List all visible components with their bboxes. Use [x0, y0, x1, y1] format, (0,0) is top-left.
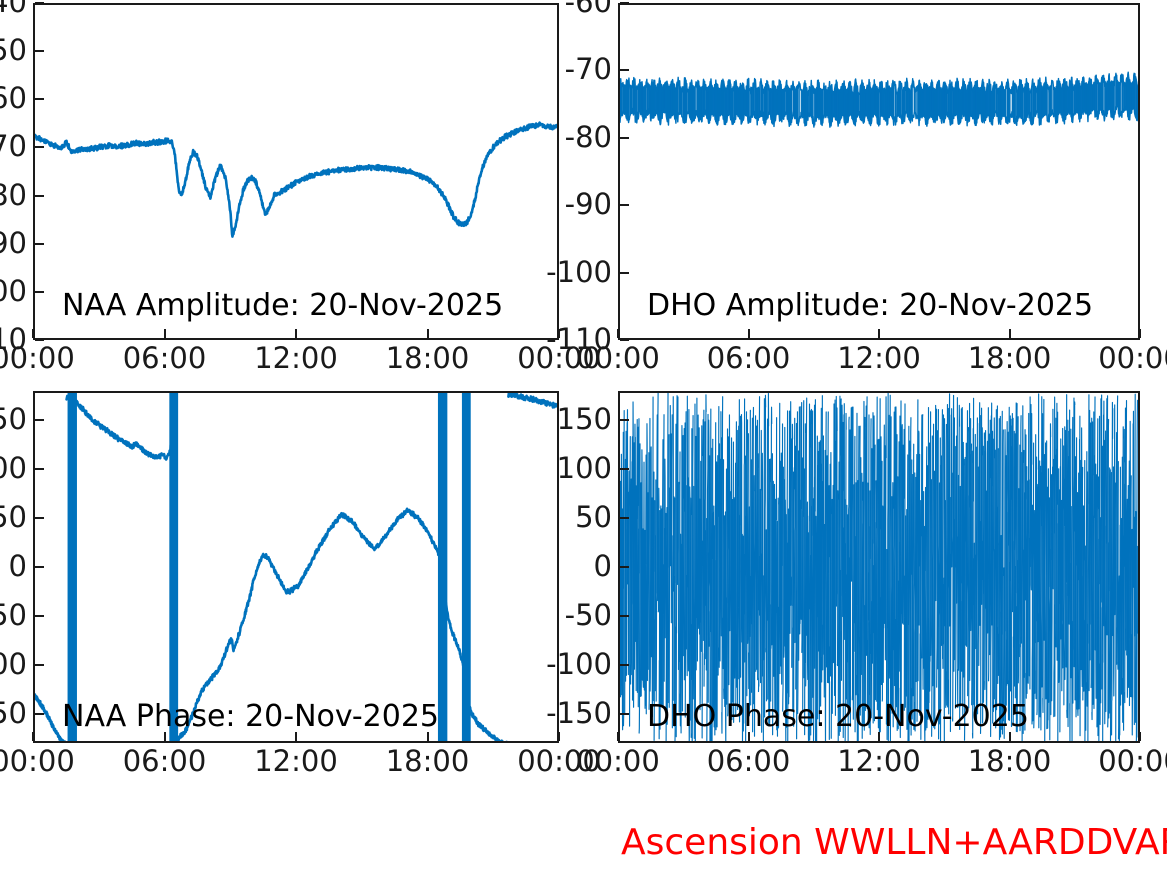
y-tick-label: -60: [0, 84, 27, 113]
y-tick-label: -60: [565, 0, 612, 17]
y-tick-label: -150: [546, 699, 612, 728]
y-tickmark: [620, 419, 629, 421]
station-network-label: Ascension WWLLN+AARDDVARK: [621, 825, 1167, 861]
x-tick-label: 06:00: [123, 344, 207, 373]
y-tick-label: -50: [0, 601, 27, 630]
panel-title-naa-phase: NAA Phase: 20-Nov-2025: [62, 702, 439, 732]
x-tick-label: 18:00: [386, 344, 470, 373]
y-tickmark: [35, 243, 44, 245]
y-tickmark: [620, 2, 629, 4]
y-tick-label: -70: [0, 132, 27, 161]
x-tick-label: 00:00: [1098, 747, 1167, 776]
x-tickmark: [558, 732, 560, 741]
y-tick-label: -90: [0, 229, 27, 258]
y-tickmark: [620, 615, 629, 617]
y-tick-label: 50: [0, 503, 27, 532]
x-tickmark: [1139, 732, 1141, 741]
x-tickmark: [427, 329, 429, 338]
y-tickmark: [35, 50, 44, 52]
panel-title-dho-phase: DHO Phase: 20-Nov-2025: [647, 702, 1029, 732]
y-tick-label: -100: [546, 650, 612, 679]
x-tick-label: 12:00: [837, 344, 921, 373]
y-tickmark: [35, 713, 44, 715]
y-tick-label: -100: [0, 650, 27, 679]
x-tick-label: 06:00: [707, 344, 791, 373]
x-tickmark: [295, 329, 297, 338]
y-tickmark: [35, 468, 44, 470]
y-tick-label: -70: [565, 55, 612, 84]
x-tickmark: [1009, 329, 1011, 338]
y-tick-label: -100: [0, 277, 27, 306]
panel-naa-phase: 150100500-50-100-15000:0006:0012:0018:00…: [0, 388, 600, 788]
y-tick-label: -80: [565, 123, 612, 152]
x-tick-label: 18:00: [968, 344, 1052, 373]
plotbox-dho-phase[interactable]: [618, 391, 1140, 743]
y-tickmark: [35, 664, 44, 666]
y-tickmark: [620, 517, 629, 519]
x-tick-label: 00:00: [576, 747, 660, 776]
x-tickmark: [32, 329, 34, 338]
y-tickmark: [35, 517, 44, 519]
vlf-figure: -40-50-60-70-80-90-100-11000:0006:0012:0…: [0, 0, 1167, 875]
x-tick-label: 18:00: [968, 747, 1052, 776]
panel-dho-phase: 150100500-50-100-15000:0006:0012:0018:00…: [585, 388, 1167, 788]
trace-naa-phase: [35, 393, 559, 743]
panel-dho-amplitude: -60-70-80-90-100-11000:0006:0012:0018:00…: [585, 0, 1167, 390]
x-tick-label: 18:00: [386, 747, 470, 776]
y-tickmark: [35, 195, 44, 197]
y-tickmark: [35, 419, 44, 421]
y-tick-label: -90: [565, 190, 612, 219]
y-tick-label: -100: [546, 258, 612, 287]
x-tickmark: [748, 329, 750, 338]
y-tick-label: -40: [0, 0, 27, 17]
y-tick-label: -50: [0, 36, 27, 65]
y-tick-label: -80: [0, 181, 27, 210]
panel-title-naa-amplitude: NAA Amplitude: 20-Nov-2025: [62, 291, 503, 321]
x-tickmark: [1139, 329, 1141, 338]
y-tick-label: 150: [0, 405, 27, 434]
x-tick-label: 00:00: [0, 747, 75, 776]
y-tickmark: [620, 664, 629, 666]
y-tickmark: [620, 137, 629, 139]
x-tick-label: 12:00: [254, 747, 338, 776]
x-tick-label: 12:00: [837, 747, 921, 776]
y-tickmark: [35, 291, 44, 293]
plotbox-naa-phase[interactable]: [33, 391, 559, 743]
y-tick-label: -150: [0, 699, 27, 728]
y-tickmark: [620, 468, 629, 470]
y-tick-label: 0: [594, 552, 612, 581]
y-tickmark: [35, 615, 44, 617]
y-tickmark: [35, 146, 44, 148]
x-tick-label: 12:00: [254, 344, 338, 373]
y-tick-label: 0: [9, 552, 27, 581]
x-tickmark: [32, 732, 34, 741]
y-tickmark: [620, 566, 629, 568]
y-tick-label: 100: [0, 454, 27, 483]
y-tick-label: 50: [575, 503, 612, 532]
y-tickmark: [35, 2, 44, 4]
x-tick-label: 00:00: [1098, 344, 1167, 373]
x-tick-label: 06:00: [123, 747, 207, 776]
x-tick-label: 00:00: [576, 344, 660, 373]
x-tick-label: 06:00: [707, 747, 791, 776]
y-tick-label: -50: [565, 601, 612, 630]
x-tick-label: 00:00: [0, 344, 75, 373]
y-tick-label: 150: [557, 405, 612, 434]
x-tickmark: [878, 329, 880, 338]
trace-dho-phase: [620, 393, 1140, 743]
panel-title-dho-amplitude: DHO Amplitude: 20-Nov-2025: [647, 291, 1093, 321]
y-tickmark: [620, 204, 629, 206]
y-tickmark: [620, 713, 629, 715]
y-tickmark: [35, 566, 44, 568]
x-tickmark: [164, 329, 166, 338]
y-tickmark: [35, 98, 44, 100]
x-tickmark: [617, 732, 619, 741]
panel-naa-amplitude: -40-50-60-70-80-90-100-11000:0006:0012:0…: [0, 0, 600, 390]
y-tickmark: [620, 272, 629, 274]
y-tickmark: [620, 69, 629, 71]
y-tick-label: 100: [557, 454, 612, 483]
x-tickmark: [617, 329, 619, 338]
